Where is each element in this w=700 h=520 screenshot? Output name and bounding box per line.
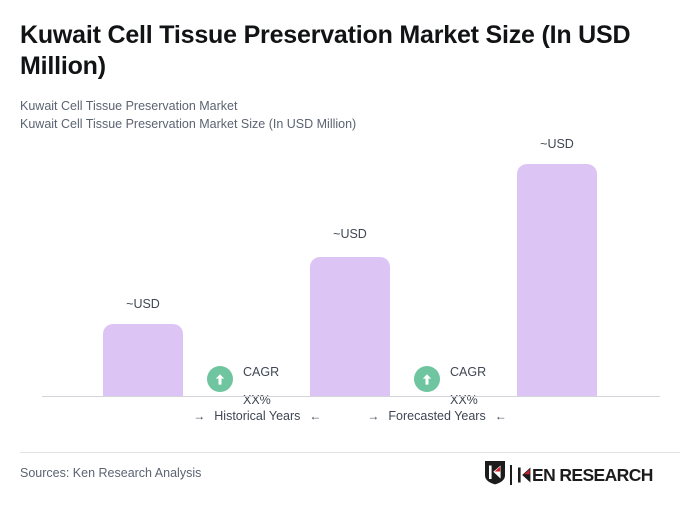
x-axis-line [42, 396, 660, 397]
arrow-right-icon: → [193, 410, 205, 422]
arrow-left-icon: ← [495, 410, 507, 422]
ken-research-logo: EN RESEARCH [484, 462, 653, 488]
chart-page: Kuwait Cell Tissue Preservation Market S… [0, 0, 700, 520]
bar-value-label-2-line-1: ~USD [333, 227, 367, 241]
period-historical: → Historical Years ← [193, 409, 321, 423]
bar-2[interactable] [310, 257, 390, 396]
shield-k-icon [484, 460, 506, 490]
period-historical-label: Historical Years [214, 409, 300, 423]
brand-wordmark-text: EN RESEARCH [532, 465, 653, 486]
bar-chart: ~USD XX Mn CAGR XX% ~USD 150 Mn [0, 0, 700, 440]
logo-divider [510, 465, 512, 485]
arrow-up-icon [207, 366, 233, 392]
period-forecasted-label: Forecasted Years [388, 409, 485, 423]
footer-divider [20, 452, 680, 453]
cagr-annotation-1-text: CAGR XX% [243, 351, 279, 407]
arrow-left-icon: ← [309, 410, 321, 422]
bar-3[interactable] [517, 164, 597, 396]
bar-value-label-1-line-1: ~USD [126, 297, 160, 311]
cagr-annotation-2-line-1: CAGR [450, 365, 486, 379]
period-forecasted: → Forecasted Years ← [367, 409, 506, 423]
cagr-annotation-2-text: CAGR XX% [450, 351, 486, 407]
brand-wordmark: EN RESEARCH [518, 465, 653, 486]
sources-note: Sources: Ken Research Analysis [20, 466, 201, 480]
period-legend: → Historical Years ← → Forecasted Years … [0, 409, 700, 423]
arrow-up-icon [414, 366, 440, 392]
cagr-annotation-1: CAGR XX% [207, 351, 279, 407]
cagr-annotation-2: CAGR XX% [414, 351, 486, 407]
bar-value-label-3-line-1: ~USD [540, 137, 574, 151]
bar-1[interactable] [103, 324, 183, 396]
cagr-annotation-1-line-1: CAGR [243, 365, 279, 379]
arrow-right-icon: → [367, 410, 379, 422]
